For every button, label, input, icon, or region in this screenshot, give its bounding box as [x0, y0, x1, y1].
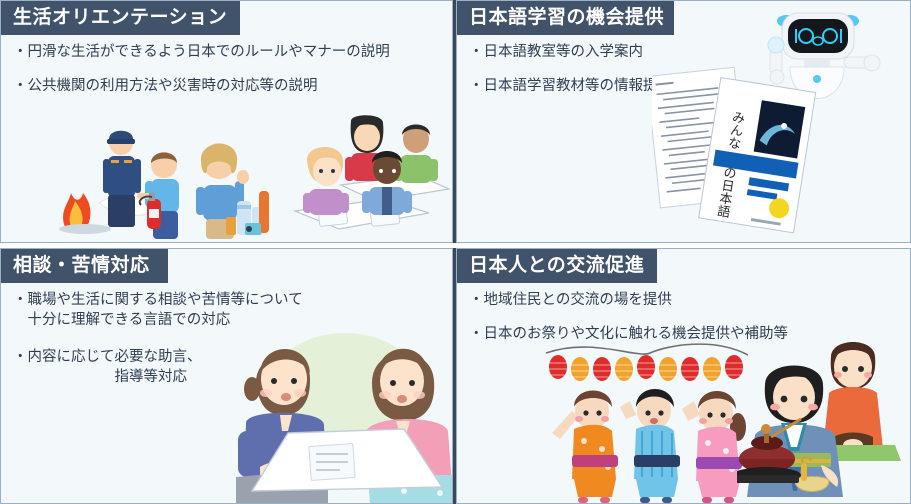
panel-bullets-consultation-complaints: ・職場や生活に関する相談や苦情等について 十分に理解できる言語での対応 ・内容に…: [13, 291, 446, 405]
panel-header-life-orientation: 生活オリエンテーション: [1, 1, 240, 35]
four-panel-board: 生活オリエンテーション ・円滑な生活ができるよう日本でのルールやマナーの説明 ・…: [0, 0, 911, 504]
bullet-item: ・日本のお祭りや文化に触れる機会提供や補助等: [469, 325, 904, 345]
svg-text:みんな: みんな: [724, 109, 745, 150]
bullet-item: ・円滑な生活ができるよう日本でのルールやマナーの説明: [13, 43, 446, 63]
panel-life-orientation: 生活オリエンテーション ・円滑な生活ができるよう日本でのルールやマナーの説明 ・…: [0, 0, 453, 243]
panel-bullets-japanese-language-learning: ・日本語教室等の入学案内 ・日本語学習教材等の情報提供: [469, 43, 904, 110]
panel-bullets-life-orientation: ・円滑な生活ができるよう日本でのルールやマナーの説明 ・公共機関の利用方法や災害…: [13, 43, 446, 110]
bullet-item: ・日本語学習教材等の情報提供: [469, 77, 904, 97]
festival-dancers-illustration: [542, 339, 757, 504]
classroom-lecture-illustration: [289, 113, 453, 243]
panel-bullets-exchange-with-japanese: ・地域住民との交流の場を提供 ・日本のお祭りや文化に触れる機会提供や補助等: [469, 291, 904, 358]
bullet-item: ・内容に応じて必要な助言、 指導等対応: [13, 348, 446, 387]
panel-header-consultation-complaints: 相談・苦情対応: [1, 249, 168, 283]
panel-consultation-complaints: 相談・苦情対応 ・職場や生活に関する相談や苦情等について 十分に理解できる言語で…: [0, 248, 453, 504]
bullet-item: ・地域住民との交流の場を提供: [469, 291, 904, 311]
bullet-item: ・日本語教室等の入学案内: [469, 43, 904, 63]
fire-drill-illustration: [59, 119, 269, 243]
panel-japanese-language-learning: 日本語学習の機会提供 ・日本語教室等の入学案内 ・日本語学習教材等の情報提供: [456, 0, 911, 243]
svg-text:の日本語: の日本語: [714, 165, 738, 219]
bullet-item: ・公共機関の利用方法や災害時の対応等の説明: [13, 77, 446, 97]
tea-ceremony-illustration: [737, 341, 911, 504]
panel-header-japanese-language-learning: 日本語学習の機会提供: [457, 1, 674, 35]
bullet-item: ・職場や生活に関する相談や苦情等について 十分に理解できる言語での対応: [13, 291, 446, 330]
panel-exchange-with-japanese: 日本人との交流促進 ・地域住民との交流の場を提供 ・日本のお祭りや文化に触れる機…: [456, 248, 911, 504]
panel-header-exchange-with-japanese: 日本人との交流促進: [457, 249, 657, 283]
